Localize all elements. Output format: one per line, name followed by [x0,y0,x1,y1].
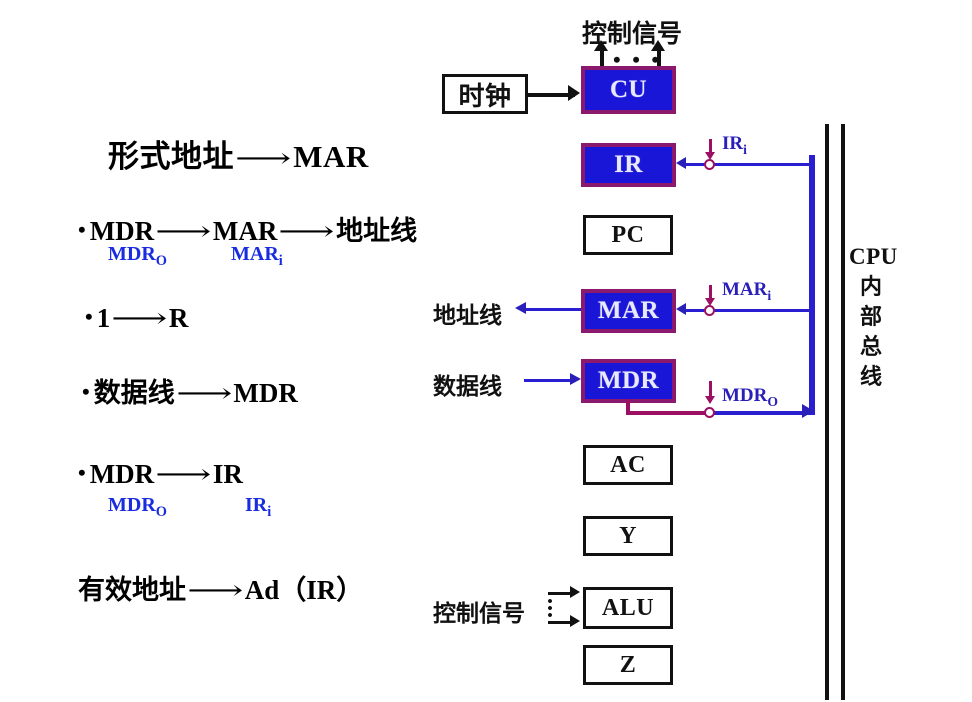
step-1-part-0: MDR [90,216,154,246]
step-2-part-2: R [169,303,189,333]
mdr-output-signal-label: MDRO [722,385,778,410]
data-line-label: 数据线 [433,367,502,401]
cpu-bus-line-left [825,124,829,700]
cpu-bus-label-cn-0: 内 [849,272,893,302]
mar-input-signal-label: MARi [722,279,771,304]
address-line-label: 地址线 [433,296,502,330]
step-1-sub-mari: MARi [231,243,283,270]
cpu-bus-label-cn-1: 部 [849,302,893,332]
register-z[interactable]: Z [583,645,673,685]
step-2: •1⟶R [85,303,188,334]
step-1-part-2: MAR [213,216,277,246]
data-line-to-mdr [524,379,573,382]
step-4-sub-iri: IRi [245,494,271,521]
alu-control-ellipsis: ••• [546,599,554,620]
arrow-icon: ⟶ [279,216,335,247]
step-1-sub-mdro: MDRO [108,243,167,270]
left-panel-footer: 有效地址⟶Ad（IR） [78,568,363,607]
mdr-gate-junction [704,407,715,418]
sub-label: MDR [108,243,156,265]
mar-to-address-line [525,308,581,311]
left-panel-title: 形式地址⟶MAR [108,131,369,176]
step-3: •数据线⟶MDR [82,371,298,410]
arrow-icon: ⟶ [111,303,167,334]
sub-label: MDR [108,494,156,516]
bullet-icon: • [82,379,90,404]
clock-box[interactable]: 时钟 [442,74,528,114]
register-mar[interactable]: MAR [581,289,676,333]
signal-name: IR [722,133,743,154]
mdr-control-arrowhead [705,396,715,404]
left-title-source: 形式地址 [108,139,234,174]
footer-dest: Ad（IR） [245,575,364,605]
cpu-bus-active-segment [809,155,815,415]
step-1-part-4: 地址线 [336,216,417,246]
step-4-part-0: MDR [90,459,154,489]
alu-control-arrowhead-top [570,586,580,598]
step-3-part-0: 数据线 [94,378,175,408]
arrow-icon: ⟶ [155,459,211,490]
left-title-dest: MAR [293,139,369,174]
step-2-part-0: 1 [97,303,111,333]
sub-label: MAR [231,243,279,265]
alu-control-arrowhead-bottom [570,615,580,627]
signal-index: i [767,288,771,303]
sub-label: IR [245,494,267,516]
sub-index: i [267,504,271,520]
arrow-icon: ⟶ [187,575,243,606]
arrow-icon: ⟶ [235,143,292,174]
register-alu[interactable]: ALU [583,587,673,629]
sub-index: O [156,253,167,269]
signal-name: MDR [722,385,767,406]
cpu-bus-label: CPU 内 部 总 线 [849,242,893,392]
register-pc[interactable]: PC [583,215,673,255]
register-cu[interactable]: CU [581,66,676,114]
bullet-icon: • [78,460,86,485]
step-4-part-2: IR [213,459,243,489]
cpu-bus-label-en: CPU [849,242,893,272]
mdr-output-line-right [710,411,812,415]
bullet-icon: • [85,304,93,329]
sub-index: O [156,504,167,520]
signal-name: MAR [722,279,767,300]
ir-gate-junction [704,159,715,170]
register-mdr[interactable]: MDR [581,359,676,403]
register-y[interactable]: Y [583,516,673,556]
bullet-icon: • [78,217,86,242]
slide-canvas: 形式地址⟶MAR •MDR⟶MAR⟶地址线 MDRO MARi •1⟶R •数据… [0,0,972,702]
control-signal-alu-label: 控制信号 [433,594,525,628]
step-3-part-2: MDR [233,378,297,408]
mdr-output-line-left [626,411,710,415]
cu-control-arrowhead-left [594,40,608,51]
address-line-arrowhead [515,302,526,314]
mar-input-arrowhead [676,303,686,315]
signal-index: O [767,394,778,409]
register-ac[interactable]: AC [583,445,673,485]
step-4: •MDR⟶IR [78,459,243,490]
arrow-icon: ⟶ [176,378,232,409]
cpu-bus-label-cn-3: 线 [849,362,893,392]
signal-index: i [743,142,747,157]
ir-input-signal-label: IRi [722,133,747,158]
data-line-arrowhead [570,373,581,385]
ir-input-arrowhead [676,157,686,169]
footer-source: 有效地址 [78,575,186,605]
mdr-output-arrowhead [802,404,814,418]
cpu-bus-line-right [841,124,845,700]
cpu-bus-label-cn-2: 总 [849,332,893,362]
sub-index: i [279,253,283,269]
step-4-sub-mdro: MDRO [108,494,167,521]
clock-to-cu-arrowhead [568,85,580,101]
mar-gate-junction [704,305,715,316]
register-ir[interactable]: IR [581,143,676,187]
